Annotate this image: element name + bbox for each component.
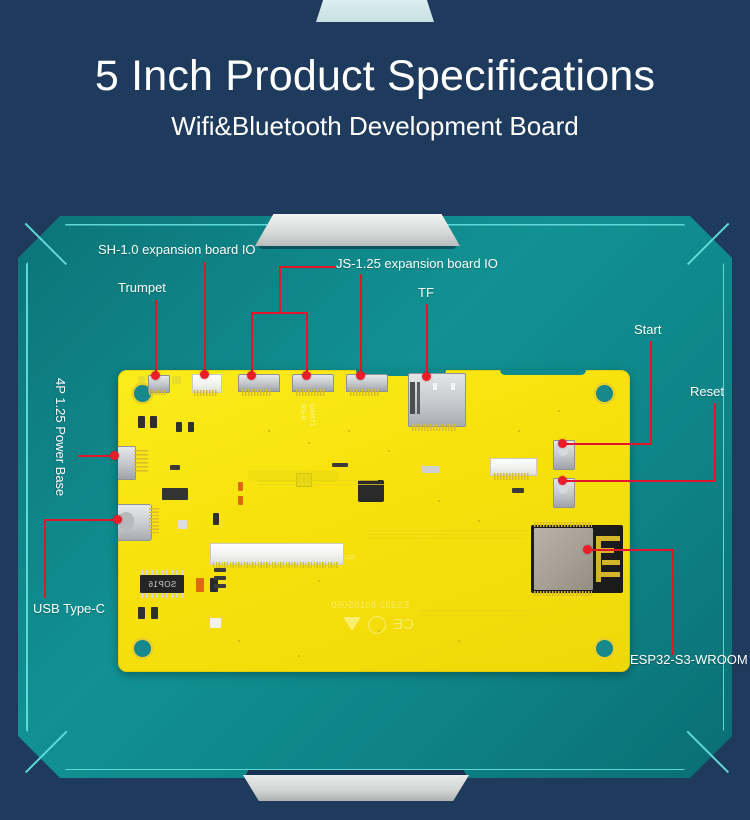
pcb-board: LCD SOP16 ES932-8016S050 CE UART1 RS-8 (118, 370, 630, 672)
callout-leader-js-1.25-right (306, 312, 308, 376)
smd-part (170, 465, 180, 470)
callout-label-start: Start (634, 322, 661, 337)
sh-1.0-connector-pins (194, 390, 218, 396)
js-1.25-connector-3-pins (350, 389, 380, 396)
speaker-pad-right (172, 376, 181, 384)
pcb-via (238, 640, 240, 642)
pcb-trace (248, 470, 338, 482)
callout-dot-usb-c (113, 515, 122, 524)
callout-leader-js-1.25-riser (279, 266, 281, 313)
callout-leader-usb-c-v (44, 519, 46, 598)
tf-card-slot-latch (410, 382, 415, 414)
pcb-via (558, 410, 560, 412)
smd-part (238, 482, 243, 491)
callout-dot-trumpet (151, 371, 160, 380)
callout-label-reset: Reset (690, 384, 724, 399)
smd-part (151, 607, 158, 619)
uart1-silkscreen: UART1 (308, 404, 315, 427)
speaker-pad-left (138, 376, 145, 383)
callout-label-trumpet: Trumpet (118, 280, 166, 295)
mounting-hole-bottom-right (596, 640, 613, 657)
pcb-via (298, 655, 300, 657)
callout-dot-sh-1.0 (200, 370, 209, 379)
smd-part (213, 513, 219, 525)
smd-part (178, 520, 187, 529)
callout-dot-start (558, 439, 567, 448)
callout-dot-tf (422, 372, 431, 381)
board-part-number: ES932-8016S050 (331, 600, 409, 610)
pcb-trace (368, 534, 528, 535)
smd-part (176, 422, 182, 432)
smd-part (512, 488, 524, 493)
pcb-via (438, 500, 440, 502)
sop16-chip-pins-top (141, 570, 183, 575)
pcb-via (318, 580, 320, 582)
sop16-chip-marking: SOP16 (148, 580, 176, 589)
smd-part (214, 576, 226, 580)
esp32-module-castellations-top (534, 522, 592, 527)
smd-part (332, 463, 348, 467)
smd-part (138, 607, 145, 619)
callout-dot-js-1.25-1 (247, 371, 256, 380)
pcb-via (458, 640, 460, 642)
callout-leader-esp32-h (587, 549, 673, 551)
tf-card-slot-screw-2 (451, 383, 455, 390)
fpc-connector-right-pins (494, 473, 530, 480)
smd-part (138, 416, 145, 428)
callout-dot-js-1.25-2 (302, 371, 311, 380)
callout-dot-js-1.25-3 (356, 371, 365, 380)
callout-leader-reset-v (714, 403, 716, 481)
smd-part (422, 466, 440, 473)
smd-part (188, 422, 194, 432)
top-decorative-tab (316, 0, 434, 22)
callout-leader-tf (426, 304, 428, 377)
rs8-silkscreen: RS-8 (299, 404, 306, 420)
page-subtitle: Wifi&Bluetooth Development Board (0, 111, 750, 142)
speaker-connector-pins (149, 390, 167, 395)
callout-leader-trumpet (155, 300, 157, 376)
callout-leader-js-1.25-third (360, 274, 362, 376)
page-title: 5 Inch Product Specifications (0, 52, 750, 101)
js-1.25-connector-1-pins (242, 389, 272, 396)
reset-button-cap (558, 484, 568, 494)
pcb-trace (258, 484, 388, 485)
lcd-silkscreen-label: LCD (345, 555, 355, 561)
mounting-hole-bottom-left (134, 640, 151, 657)
smd-part (214, 568, 226, 572)
callout-leader-js-1.25-top (279, 266, 336, 268)
pcb-via (308, 442, 310, 444)
stage-top-tab (255, 214, 460, 246)
callout-leader-reset-h (562, 480, 716, 482)
weee-mark (368, 616, 386, 634)
pcb-top-notch-right (500, 370, 586, 375)
ce-mark: CE (393, 616, 414, 633)
callout-label-usb-c: USB Type-C (33, 601, 105, 616)
callout-label-esp32: ESP32-S3-WROOM (630, 652, 748, 667)
sop16-chip-pins-bottom (141, 593, 183, 598)
pcb-trace (418, 615, 530, 616)
js-1.25-connector-2-pins (296, 389, 326, 396)
callout-dot-esp32 (583, 545, 592, 554)
callout-dot-power-base (110, 451, 119, 460)
pcb-via (348, 430, 350, 432)
callout-label-sh-1.0: SH-1.0 expansion board IO (98, 242, 256, 257)
smd-part (150, 416, 157, 428)
smd-part (210, 618, 221, 628)
callout-dot-reset (558, 476, 567, 485)
pcb-trace (368, 530, 528, 531)
callout-leader-js-1.25-left (251, 312, 253, 376)
callout-leader-start-v (650, 341, 652, 444)
callout-leader-usb-c-h (44, 519, 117, 521)
callout-leader-js-1.25-bracket (251, 312, 307, 314)
pcb-via (518, 430, 520, 432)
callout-label-js-1.25: JS-1.25 expansion board IO (336, 256, 498, 271)
rohs-triangle-mark (343, 617, 361, 631)
esp32-module-castellations-bottom (534, 591, 592, 596)
callout-label-power-base: 4P 1.25 Power Base (53, 378, 68, 496)
callout-leader-esp32-v (672, 549, 674, 655)
tf-card-slot-pins (412, 424, 456, 431)
lcd-fpc-connector-pins (213, 562, 339, 568)
callout-leader-sh-1.0 (204, 262, 206, 375)
smd-part (196, 578, 204, 592)
pcb-trace (418, 610, 528, 611)
usb-c-port-pins (149, 508, 159, 535)
callout-leader-start-h (562, 443, 652, 445)
esp32-module-antenna (596, 532, 620, 586)
stage-bottom-tab (243, 775, 469, 801)
pcb-via (388, 450, 390, 452)
pcb-trace (368, 538, 526, 539)
power-connector-pins (134, 450, 148, 474)
smd-part (238, 496, 243, 505)
tf-card-slot-screw-1 (433, 383, 437, 390)
smd-part (162, 488, 188, 500)
pcb-via (268, 430, 270, 432)
page-header: 5 Inch Product Specifications Wifi&Bluet… (0, 52, 750, 142)
pcb-via (478, 520, 480, 522)
tf-card-slot-slot (417, 382, 420, 414)
callout-label-tf: TF (418, 285, 434, 300)
esp32-module-shield (534, 528, 593, 590)
smd-part (214, 584, 226, 588)
mounting-hole-top-right (596, 385, 613, 402)
callout-leader-power-base (78, 455, 114, 457)
